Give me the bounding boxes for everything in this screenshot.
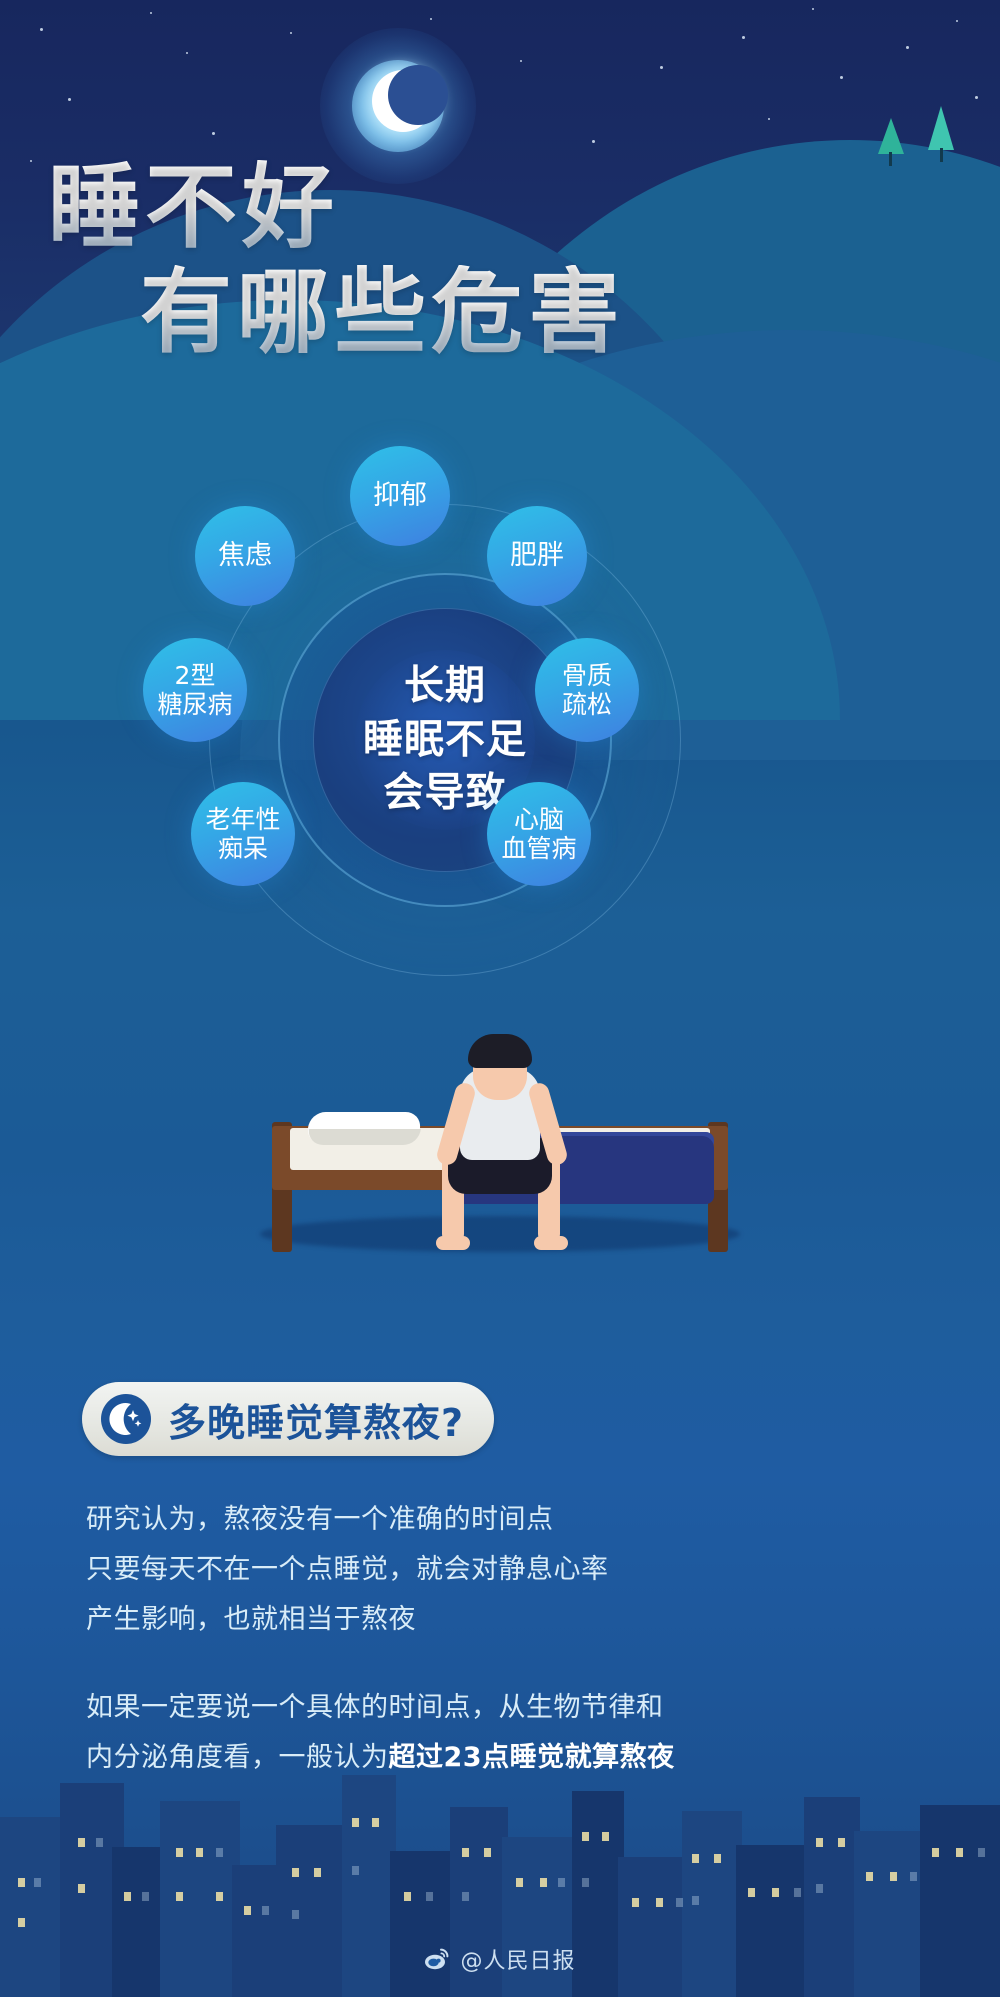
bubble-osteoporosis-label-line-1: 骨质: [562, 661, 612, 690]
bubble-anxiety[interactable]: 焦虑: [195, 506, 295, 606]
foot-left: [436, 1236, 470, 1250]
floor-shadow: [260, 1216, 740, 1252]
bubble-obesity[interactable]: 肥胖: [487, 506, 587, 606]
man-on-bed-illustration: [250, 1030, 750, 1270]
bubble-osteoporosis-label-line-2: 疏松: [562, 690, 612, 719]
bubble-dementia-label: 老年性 痴呆: [205, 805, 280, 864]
weibo-icon: [424, 1946, 450, 1972]
bubble-dementia[interactable]: 老年性 痴呆: [191, 782, 295, 886]
para1-line1: 研究认为，熬夜没有一个准确的时间点: [86, 1495, 926, 1545]
poster-root: 睡不好 有哪些危害 长期 睡眠不足 会导致 抑郁 肥胖 焦虑 骨质 疏松: [0, 0, 1000, 1997]
bubble-diabetes-label-line-1: 2型: [175, 661, 216, 690]
para1-line3: 产生影响，也就相当于熬夜: [86, 1595, 926, 1645]
consequences-diagram: 长期 睡眠不足 会导致 抑郁 肥胖 焦虑 骨质 疏松 2型 糖尿病: [135, 430, 755, 1050]
pillow-shade: [307, 1129, 421, 1145]
bubble-osteoporosis-label: 骨质 疏松: [562, 661, 612, 720]
bubble-diabetes[interactable]: 2型 糖尿病: [143, 638, 247, 742]
section-banner: 多晚睡觉算熬夜?: [82, 1382, 494, 1456]
title-line-1: 睡不好: [48, 160, 1000, 257]
crescent-moon-icon: [372, 70, 434, 132]
footer: @人民日报: [0, 1943, 1000, 1975]
foot-right: [534, 1236, 568, 1250]
bubble-dementia-label-line-1: 老年性: [205, 805, 280, 834]
bubble-depression-label: 抑郁: [373, 480, 427, 512]
hair: [468, 1034, 532, 1068]
bubble-obesity-label: 肥胖: [510, 540, 564, 572]
bubble-dementia-label-line-2: 痴呆: [218, 834, 268, 863]
bubble-diabetes-label: 2型 糖尿病: [157, 661, 232, 720]
bubble-anxiety-label: 焦虑: [218, 540, 272, 572]
poster-title: 睡不好 有哪些危害: [0, 160, 1000, 361]
para1-line2: 只要每天不在一个点睡觉，就会对静息心率: [86, 1545, 926, 1595]
pine-tree-icon: [878, 118, 904, 154]
bubble-depression[interactable]: 抑郁: [350, 446, 450, 546]
bubble-osteoporosis[interactable]: 骨质 疏松: [535, 638, 639, 742]
crescent-moon-stars-icon: [100, 1393, 152, 1445]
pine-tree-icon: [928, 106, 954, 150]
bubble-cardiovascular-label-line-2: 血管病: [501, 834, 576, 863]
bubble-diabetes-label-line-2: 糖尿病: [157, 690, 232, 719]
bubble-cardiovascular[interactable]: 心脑 血管病: [487, 782, 591, 886]
bubble-cardiovascular-label: 心脑 血管病: [501, 805, 576, 864]
title-line-2: 有哪些危害: [140, 265, 1000, 362]
paragraph-gap: [86, 1645, 926, 1683]
bubble-cardiovascular-label-line-1: 心脑: [514, 805, 564, 834]
section-heading: 多晚睡觉算熬夜?: [168, 1392, 464, 1447]
footer-account: @人民日报: [460, 1943, 575, 1975]
